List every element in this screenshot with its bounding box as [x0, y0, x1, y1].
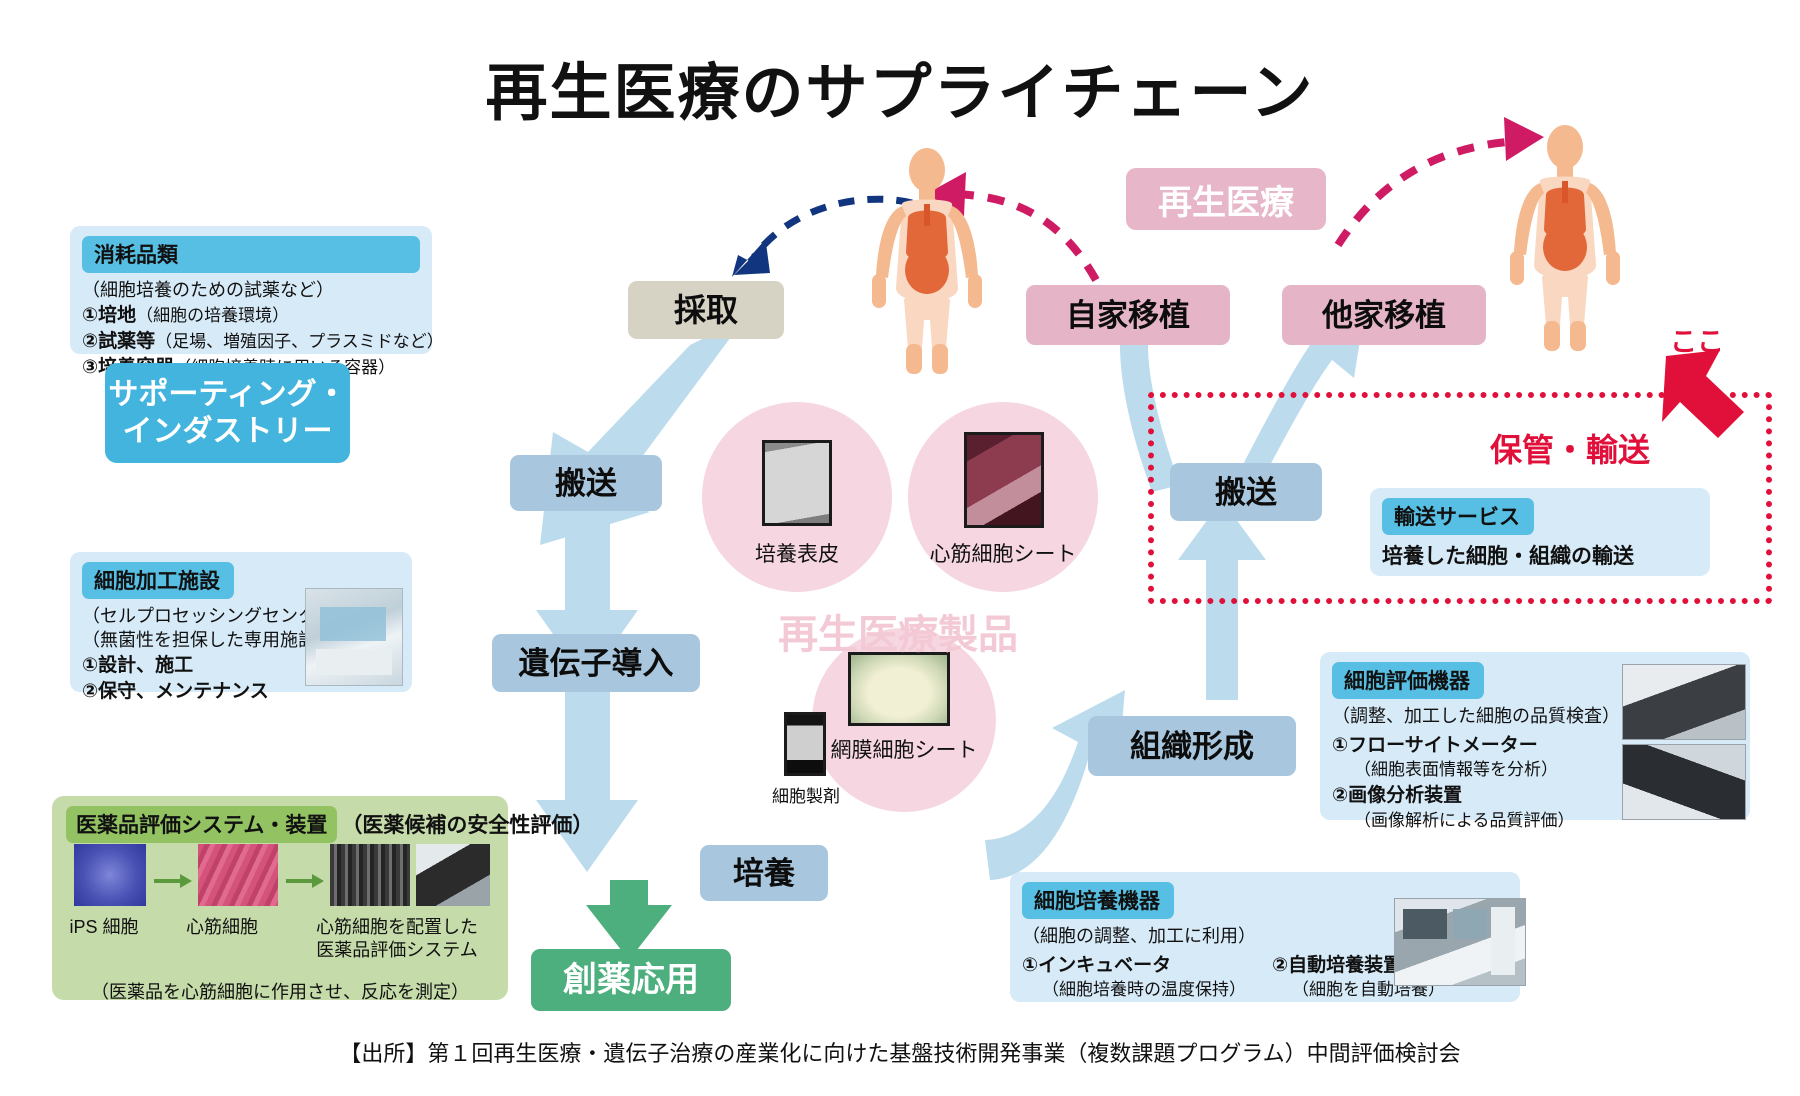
step-tissue-formation[interactable]: 組織形成 — [1088, 716, 1296, 776]
pharma-note: （医薬品を心筋細胞に作用させ、反応を測定） — [52, 978, 508, 1004]
item-term: 保守、メンテナンス — [98, 681, 269, 702]
item-term: 培地 — [98, 305, 136, 326]
cardiomyocyte-photo — [198, 844, 278, 906]
step-gene-transfer[interactable]: 遺伝子導入 — [492, 634, 700, 692]
panel-consumables: 消耗品類 （細胞培養のための試薬など） ①培地（細胞の培養環境） ②試薬等（足場… — [70, 226, 432, 354]
ips-cell-photo — [74, 844, 146, 906]
item-number: ② — [1332, 785, 1348, 806]
item-number: ① — [1022, 955, 1038, 976]
panel-pharma-head: 医薬品評価システム・装置 — [66, 806, 337, 843]
supporting-industry-line1: サポーティング・ — [108, 376, 346, 414]
panel-cell-culture-head: 細胞培養機器 — [1022, 882, 1174, 919]
regenerative-medicine-label: 再生医療 — [1126, 168, 1326, 230]
panel-transport-service-body: 培養した細胞・組織の輸送 — [1382, 543, 1698, 572]
panel-consumables-sub: （細胞培養のための試薬など） — [82, 279, 420, 303]
panel-pharma-head-paren: （医薬候補の安全性評価） — [337, 806, 603, 843]
step-culture[interactable]: 培養 — [700, 845, 828, 901]
cell-preparation-photo — [784, 712, 826, 776]
panel-transport-service: 輸送サービス 培養した細胞・組織の輸送 — [1370, 488, 1710, 576]
step-drug-discovery[interactable]: 創薬応用 — [531, 949, 731, 1011]
cultured-epidermis-photo — [762, 440, 832, 526]
panel-consumables-head: 消耗品類 — [82, 236, 420, 273]
product-caption-cardiac-sheet: 心筋細胞シート — [898, 538, 1108, 568]
infographic-canvas: 再生医療のサプライチェーン — [0, 0, 1800, 1096]
panel-facility-head: 細胞加工施設 — [82, 562, 234, 599]
human-figure-donor — [862, 148, 992, 378]
item-term: インキュベータ — [1038, 955, 1171, 976]
pharma-caption-3-line1: 心筋細胞を配置した — [292, 916, 502, 939]
step-harvest[interactable]: 採取 — [628, 281, 784, 339]
step-allogeneic-label: 他家移植 — [1322, 300, 1446, 331]
item-term: 自動培養装置 — [1288, 955, 1402, 976]
step-autologous-transplant[interactable]: 自家移植 — [1026, 285, 1230, 345]
transport-service-body-text: 培養した細胞・組織の輸送 — [1382, 545, 1634, 568]
item-number: ② — [1272, 955, 1288, 976]
source-caption: 【出所】第１回再生医療・遺伝子治療の産業化に向けた基盤技術開発事業（複数課題プロ… — [0, 1036, 1800, 1068]
panel-cell-culture-item-1: ①インキュベータ （細胞培養時の温度保持） — [1022, 953, 1246, 1002]
item-number: ① — [1332, 735, 1348, 756]
flow-cytometer-photo — [1622, 664, 1746, 740]
product-caption-cultured-epidermis: 培養表皮 — [702, 538, 892, 568]
clean-bench-photo — [305, 588, 403, 686]
pharma-caption-2: 心筋細胞 — [172, 916, 272, 939]
panel-consumables-item-2: ②試薬等（足場、増殖因子、プラスミドなど） — [82, 329, 420, 355]
panel-pharma-evaluation: 医薬品評価システム・装置（医薬候補の安全性評価） iPS 細胞 心筋細胞 心筋細… — [52, 796, 508, 1000]
automated-culture-device-photo — [1394, 898, 1526, 986]
here-red-arrow-icon — [1648, 350, 1768, 460]
evaluation-chip-photo — [330, 844, 410, 906]
panel-cell-evaluation-head: 細胞評価機器 — [1332, 662, 1484, 699]
regen-label-text: 再生医療 — [1158, 175, 1294, 224]
page-title: 再生医療のサプライチェーン — [0, 42, 1800, 132]
panel-consumables-item-1: ①培地（細胞の培養環境） — [82, 303, 420, 329]
step-allogeneic-transplant[interactable]: 他家移植 — [1282, 285, 1486, 345]
step-tissue-formation-label: 組織形成 — [1130, 731, 1254, 762]
pharma-caption-1: iPS 細胞 — [62, 916, 146, 939]
item-number: ② — [82, 331, 98, 352]
panel-pharma-head-row: 医薬品評価システム・装置（医薬候補の安全性評価） — [66, 806, 496, 843]
step-gene-transfer-label: 遺伝子導入 — [519, 648, 674, 679]
pharma-caption-3: 心筋細胞を配置した 医薬品評価システム — [292, 916, 502, 963]
step-harvest-label: 採取 — [674, 294, 738, 326]
arrow-right-icon — [154, 872, 194, 890]
pharma-photo-strip — [66, 844, 498, 910]
step-transport-left[interactable]: 搬送 — [510, 455, 662, 511]
step-drug-discovery-label: 創薬応用 — [563, 963, 699, 997]
supporting-industry-line2: インダストリー — [123, 413, 333, 451]
supporting-industry-label: サポーティング・ インダストリー — [105, 363, 350, 463]
arrow-right-icon — [286, 872, 326, 890]
human-figure-recipient — [1500, 125, 1630, 355]
image-analyzer-photo — [1622, 744, 1746, 820]
panel-cell-culture-item-1-desc: （細胞培養時の温度保持） — [1022, 979, 1246, 1001]
regen-products-label: 再生医療製品 — [778, 602, 1018, 660]
item-desc: （足場、増殖因子、プラスミドなど） — [155, 332, 444, 351]
panel-transport-service-head: 輸送サービス — [1382, 498, 1534, 535]
arrow-culture-to-drug — [586, 880, 672, 960]
storage-transport-label: 保管・輸送 — [1490, 425, 1650, 471]
product-circle-cardiac-sheet: 心筋細胞シート — [908, 402, 1098, 592]
cardiac-sheet-photo — [964, 432, 1044, 528]
item-term: 画像分析装置 — [1348, 785, 1462, 806]
step-transport-left-label: 搬送 — [555, 468, 617, 499]
item-term: フローサイトメーター — [1348, 735, 1538, 756]
pharma-caption-3-line2: 医薬品評価システム — [292, 939, 502, 962]
product-caption-cell-preparation: 細胞製剤 — [746, 782, 866, 807]
item-number: ① — [82, 305, 98, 326]
retina-sheet-photo — [848, 652, 950, 726]
step-culture-label: 培養 — [733, 858, 795, 889]
item-number: ② — [82, 681, 98, 702]
item-desc: （細胞の培養環境） — [136, 306, 289, 325]
item-term: 試薬等 — [98, 331, 155, 352]
arrow-gene-to-culture — [536, 692, 638, 872]
item-number: ③ — [82, 357, 98, 378]
item-number: ① — [82, 655, 98, 676]
item-term: 設計、施工 — [98, 655, 193, 676]
step-autologous-label: 自家移植 — [1066, 300, 1190, 331]
product-circle-cultured-epidermis: 培養表皮 — [702, 402, 892, 592]
microscope-photo — [416, 844, 490, 906]
